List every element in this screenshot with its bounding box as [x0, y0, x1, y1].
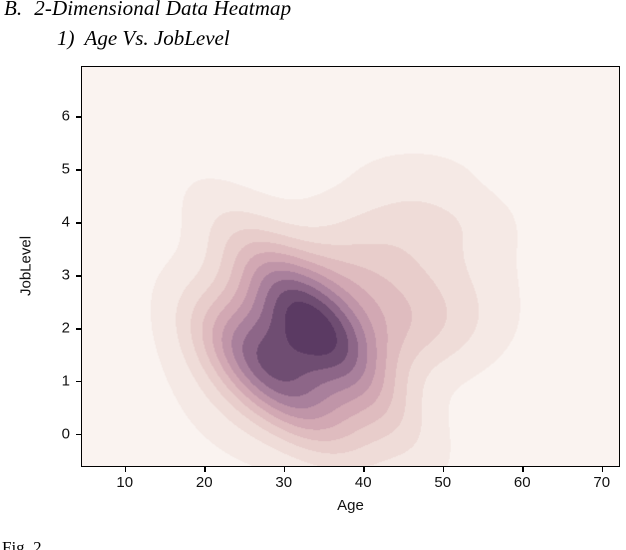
heatmap-figure: 10203040506070 0123456 Age JobLevel	[0, 55, 626, 525]
subsection-heading: 1)Age Vs. JobLevel	[57, 26, 230, 51]
y-tick-mark	[76, 381, 81, 382]
x-axis-label: Age	[81, 497, 620, 514]
x-tick-label: 60	[514, 474, 531, 491]
x-tick-mark	[363, 467, 364, 472]
subsection-title: Age Vs. JobLevel	[85, 26, 230, 50]
section-title: 2-Dimensional Data Heatmap	[34, 0, 291, 20]
y-tick-mark	[76, 222, 81, 223]
section-heading: B.2-Dimensional Data Heatmap	[4, 0, 291, 21]
y-tick-mark	[76, 434, 81, 435]
y-tick-label: 2	[62, 320, 70, 337]
y-tick-mark	[76, 169, 81, 170]
y-tick-label: 4	[62, 214, 70, 231]
x-tick-label: 50	[434, 474, 451, 491]
y-tick-label: 1	[62, 373, 70, 390]
figure-caption: Fig. 2	[2, 538, 42, 550]
x-tick-mark	[443, 467, 444, 472]
y-axis-label: JobLevel	[18, 236, 35, 296]
y-tick-label: 0	[62, 426, 70, 443]
x-tick-mark	[602, 467, 603, 472]
plot-area	[81, 66, 620, 467]
y-tick-mark	[76, 328, 81, 329]
x-tick-label: 70	[593, 474, 610, 491]
x-tick-mark	[204, 467, 205, 472]
y-tick-label: 3	[62, 267, 70, 284]
x-tick-label: 10	[116, 474, 133, 491]
kde-density-canvas	[82, 67, 619, 466]
y-tick-label: 5	[62, 161, 70, 178]
section-label: B.	[4, 0, 22, 20]
x-tick-mark	[125, 467, 126, 472]
x-tick-label: 20	[196, 474, 213, 491]
x-tick-label: 40	[355, 474, 372, 491]
subsection-label: 1)	[57, 26, 75, 50]
x-tick-mark	[522, 467, 523, 472]
x-tick-mark	[284, 467, 285, 472]
y-tick-mark	[76, 116, 81, 117]
y-tick-label: 6	[62, 108, 70, 125]
y-tick-mark	[76, 275, 81, 276]
x-tick-label: 30	[275, 474, 292, 491]
